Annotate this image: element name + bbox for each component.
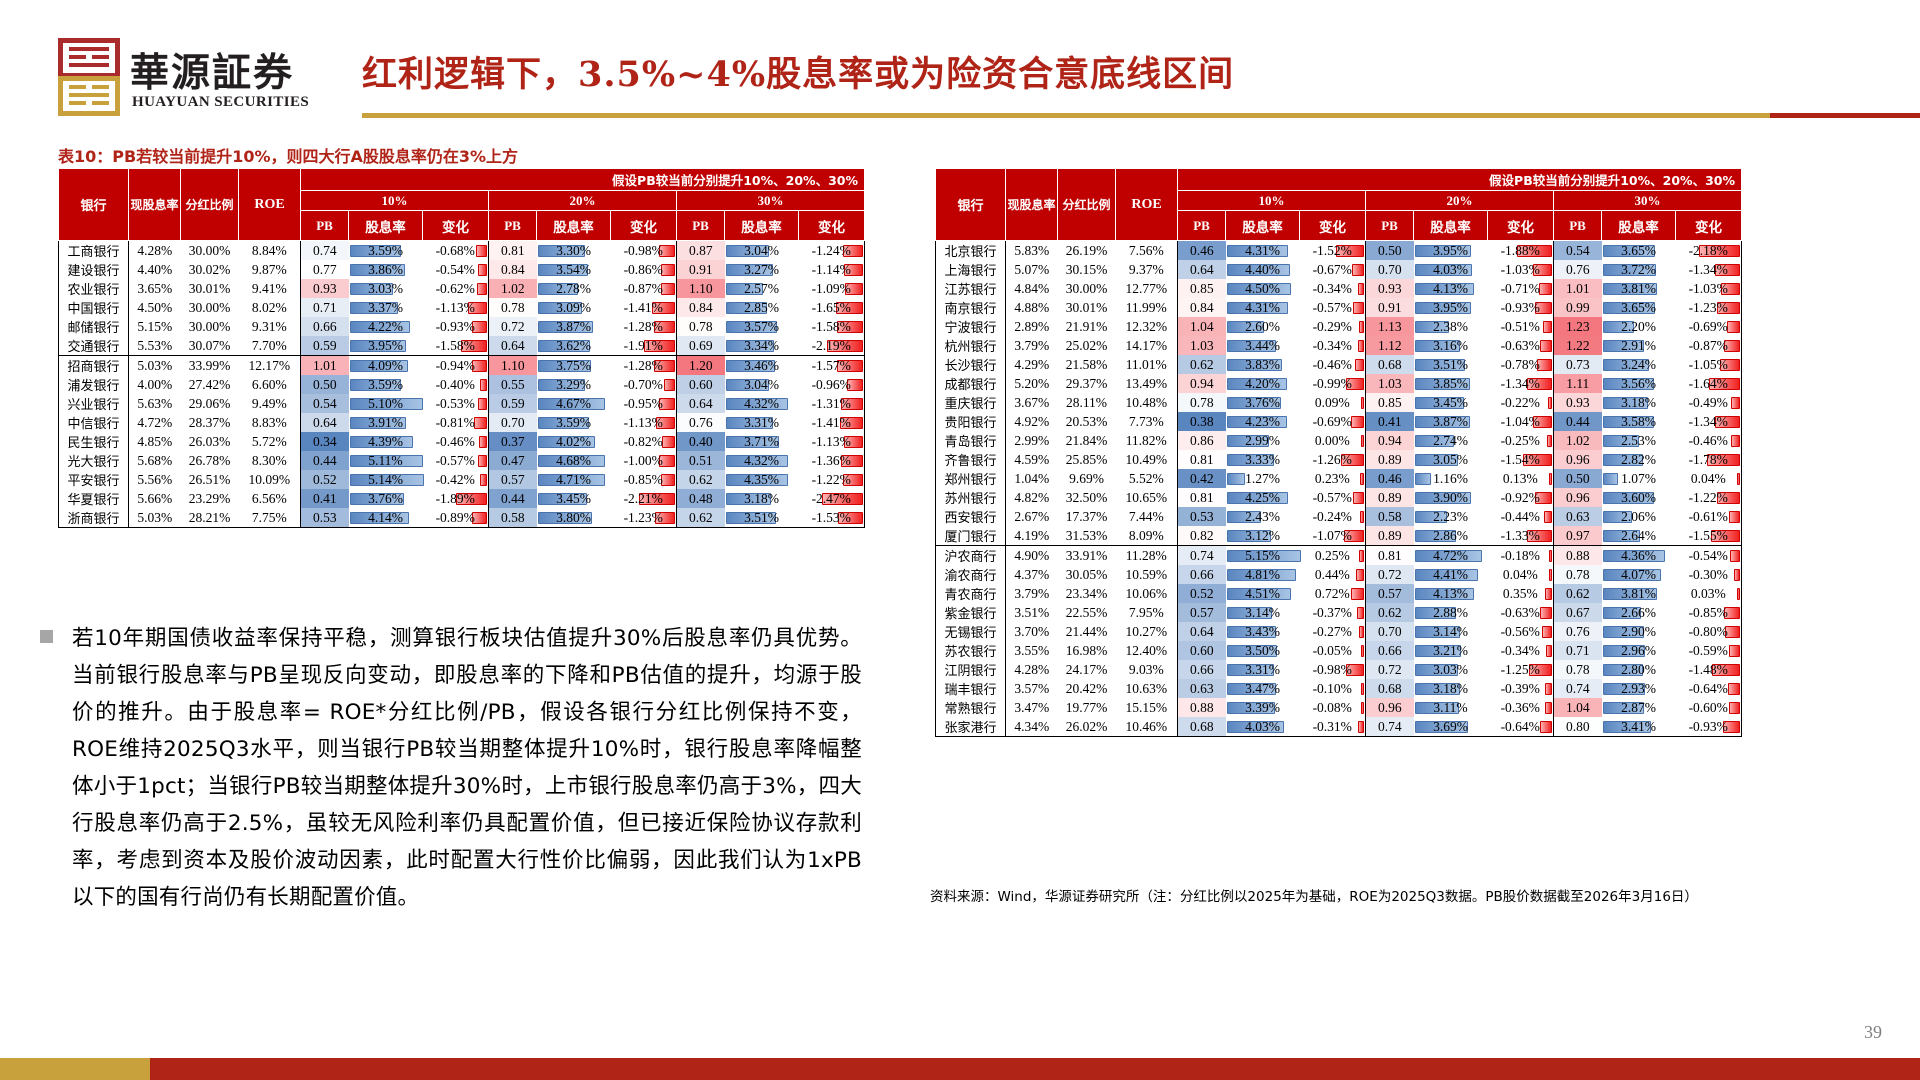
cell-change: -0.93%: [423, 317, 489, 336]
cell-payout: 27.42%: [181, 375, 239, 394]
cell-yield: 4.14%: [349, 508, 423, 528]
cell-payout: 26.02%: [1058, 717, 1116, 737]
cell-yield: 4.40%: [1226, 260, 1300, 279]
cell-payout: 19.77%: [1058, 698, 1116, 717]
cell-pb: 0.82: [1178, 526, 1226, 546]
cell-change: -0.87%: [611, 279, 677, 298]
cell-yield: 3.29%: [537, 375, 611, 394]
table-row: 邮储银行5.15%30.00%9.31%0.664.22%-0.93%0.723…: [59, 317, 865, 336]
cell-pb: 0.93: [1554, 393, 1602, 412]
cell-change: -0.24%: [1300, 507, 1366, 526]
cell-yield: 2.90%: [1602, 622, 1676, 641]
cell-change: -0.27%: [1300, 622, 1366, 641]
cell-change: -0.80%: [1676, 622, 1742, 641]
cell-payout: 25.85%: [1058, 450, 1116, 469]
table-row: 苏州银行4.82%32.50%10.65%0.814.25%-0.57%0.89…: [936, 488, 1742, 507]
cell-pb: 0.68: [1366, 679, 1414, 698]
cell-roe: 8.83%: [239, 413, 301, 432]
col-head-roe: ROE: [239, 169, 301, 241]
cell-yield: 2.38%: [1414, 317, 1488, 336]
cell-bank: 兴业银行: [59, 394, 129, 413]
cell-bank: 苏州银行: [936, 488, 1006, 507]
cell-yield: 3.95%: [349, 336, 423, 356]
cell-roe: 10.49%: [1116, 450, 1178, 469]
summary-bullet: 若10年期国债收益率保持平稳，测算银行板块估值提升30%后股息率仍具优势。当前银…: [22, 620, 862, 916]
cell-yield: 3.33%: [1226, 450, 1300, 469]
cell-pb: 0.54: [1554, 241, 1602, 261]
cell-pb: 0.53: [301, 508, 349, 528]
cell-change: -0.94%: [423, 356, 489, 376]
table-row: 重庆银行3.67%28.11%10.48%0.783.76%0.09%0.853…: [936, 393, 1742, 412]
cell-change: 0.72%: [1300, 584, 1366, 603]
cell-pb: 0.47: [489, 451, 537, 470]
cell-yield: 3.87%: [1414, 412, 1488, 431]
cell-bank: 上海银行: [936, 260, 1006, 279]
cell-bank: 齐鲁银行: [936, 450, 1006, 469]
cell-yield: 3.46%: [725, 356, 799, 376]
cell-pb: 0.64: [1178, 622, 1226, 641]
cell-pb: 0.72: [1366, 565, 1414, 584]
col-head-group-g30: 30%: [1554, 191, 1742, 211]
cell-payout: 29.06%: [181, 394, 239, 413]
cell-bank: 中国银行: [59, 298, 129, 317]
cell-pb: 0.57: [1178, 603, 1226, 622]
brand-logo: 華源証券 HUAYUAN SECURITIES: [58, 38, 343, 126]
cell-pb: 0.74: [1366, 717, 1414, 737]
cell-yield: 3.47%: [1226, 679, 1300, 698]
cell-yield: 5.15%: [1226, 546, 1300, 566]
cell-change: -0.63%: [1488, 603, 1554, 622]
col-head-group-g10: 10%: [301, 191, 489, 211]
cell-yield: 4.02%: [537, 432, 611, 451]
cell-bank: 邮储银行: [59, 317, 129, 336]
cell-yield: 3.76%: [349, 489, 423, 508]
cell-yield: 3.12%: [1226, 526, 1300, 546]
cell-bank: 常熟银行: [936, 698, 1006, 717]
table-row: 工商银行4.28%30.00%8.84%0.743.59%-0.68%0.813…: [59, 241, 865, 261]
cell-roe: 12.32%: [1116, 317, 1178, 336]
cell-change: 0.23%: [1300, 469, 1366, 488]
cell-change: -2.47%: [799, 489, 865, 508]
cell-yield: 2.57%: [725, 279, 799, 298]
col-head-assumption: 假设PB较当前分别提升10%、20%、30%: [301, 169, 865, 191]
table-row: 常熟银行3.47%19.77%15.15%0.883.39%-0.08%0.96…: [936, 698, 1742, 717]
cell-pb: 1.03: [1178, 336, 1226, 355]
cell-yield: 4.32%: [725, 394, 799, 413]
cell-pb: 0.64: [489, 336, 537, 356]
huayuan-logo-icon: [58, 38, 120, 116]
cell-change: -1.33%: [1488, 526, 1554, 546]
cell-payout: 33.99%: [181, 356, 239, 376]
cell-change: -0.93%: [1488, 298, 1554, 317]
cell-change: -1.88%: [1488, 241, 1554, 261]
cell-yield: 3.21%: [1414, 641, 1488, 660]
cell-yield: 2.85%: [725, 298, 799, 317]
cell-roe: 12.17%: [239, 356, 301, 376]
col-head-group-g20: 20%: [1366, 191, 1554, 211]
cell-pb: 0.66: [1178, 565, 1226, 584]
cell-yield: 5.11%: [349, 451, 423, 470]
cell-pb: 0.81: [1178, 488, 1226, 507]
cell-pb: 0.96: [1554, 488, 1602, 507]
cell-payout: 30.00%: [181, 298, 239, 317]
cell-payout: 28.11%: [1058, 393, 1116, 412]
cell-payout: 25.02%: [1058, 336, 1116, 355]
cell-pb: 0.46: [1178, 241, 1226, 261]
cell-yield: 3.56%: [1602, 374, 1676, 393]
cell-yield: 3.45%: [1414, 393, 1488, 412]
cell-yield: 2.78%: [537, 279, 611, 298]
col-head-change: 变化: [1676, 211, 1742, 241]
cell-change: -0.60%: [1676, 698, 1742, 717]
cell-roe: 12.40%: [1116, 641, 1178, 660]
col-head-group-g30: 30%: [677, 191, 865, 211]
cell-payout: 16.98%: [1058, 641, 1116, 660]
cell-change: -1.28%: [611, 317, 677, 336]
cell-roe: 10.59%: [1116, 565, 1178, 584]
cell-yield: 3.75%: [537, 356, 611, 376]
cell-pb: 0.72: [489, 317, 537, 336]
cell-bank: 招商银行: [59, 356, 129, 376]
cell-pb: 1.13: [1366, 317, 1414, 336]
cell-pb: 0.81: [489, 241, 537, 261]
cell-yield: 4.50%: [1226, 279, 1300, 298]
table-row: 紫金银行3.51%22.55%7.95%0.573.14%-0.37%0.622…: [936, 603, 1742, 622]
cell-change: -0.25%: [1488, 431, 1554, 450]
cell-yield: 4.03%: [1414, 260, 1488, 279]
cell-change: -0.98%: [611, 241, 677, 261]
cell-yield: 3.39%: [1226, 698, 1300, 717]
cell-bank: 交通银行: [59, 336, 129, 356]
cell-current-yield: 5.07%: [1006, 260, 1058, 279]
cell-change: -1.24%: [799, 241, 865, 261]
cell-roe: 11.28%: [1116, 546, 1178, 566]
cell-yield: 3.50%: [1226, 641, 1300, 660]
cell-change: -0.46%: [423, 432, 489, 451]
cell-pb: 1.04: [1554, 698, 1602, 717]
cell-change: -1.04%: [1488, 412, 1554, 431]
cell-yield: 3.90%: [1414, 488, 1488, 507]
cell-change: 0.44%: [1300, 565, 1366, 584]
cell-current-yield: 5.63%: [129, 394, 181, 413]
cell-bank: 平安银行: [59, 470, 129, 489]
cell-current-yield: 4.28%: [129, 241, 181, 261]
cell-current-yield: 4.29%: [1006, 355, 1058, 374]
col-head-pb: PB: [677, 211, 725, 241]
cell-pb: 1.02: [489, 279, 537, 298]
cell-yield: 3.65%: [1602, 241, 1676, 261]
cell-pb: 0.62: [1554, 584, 1602, 603]
cell-pb: 0.99: [1554, 298, 1602, 317]
cell-pb: 0.62: [1178, 355, 1226, 374]
cell-change: -0.67%: [1300, 260, 1366, 279]
cell-payout: 30.00%: [181, 241, 239, 261]
cell-yield: 2.87%: [1602, 698, 1676, 717]
cell-change: -0.36%: [1488, 698, 1554, 717]
cell-pb: 0.64: [677, 394, 725, 413]
cell-change: -0.34%: [1488, 641, 1554, 660]
cell-change: -0.05%: [1300, 641, 1366, 660]
cell-yield: 3.95%: [1414, 298, 1488, 317]
cell-current-yield: 3.67%: [1006, 393, 1058, 412]
cell-pb: 0.97: [1554, 526, 1602, 546]
table-row: 江阴银行4.28%24.17%9.03%0.663.31%-0.98%0.723…: [936, 660, 1742, 679]
cell-yield: 5.10%: [349, 394, 423, 413]
cell-yield: 3.62%: [537, 336, 611, 356]
cell-change: -0.96%: [799, 375, 865, 394]
cell-bank: 光大银行: [59, 451, 129, 470]
cell-change: -0.68%: [423, 241, 489, 261]
cell-change: -0.44%: [1488, 507, 1554, 526]
cell-pb: 0.68: [1178, 717, 1226, 737]
cell-roe: 7.95%: [1116, 603, 1178, 622]
cell-current-yield: 3.70%: [1006, 622, 1058, 641]
cell-yield: 3.69%: [1414, 717, 1488, 737]
cell-pb: 0.73: [1554, 355, 1602, 374]
cell-yield: 3.18%: [1414, 679, 1488, 698]
cell-current-yield: 4.84%: [1006, 279, 1058, 298]
cell-current-yield: 5.20%: [1006, 374, 1058, 393]
cell-change: -1.34%: [1676, 260, 1742, 279]
summary-text: 若10年期国债收益率保持平稳，测算银行板块估值提升30%后股息率仍具优势。当前银…: [72, 620, 862, 916]
cell-change: -1.05%: [1676, 355, 1742, 374]
cell-pb: 0.94: [1178, 374, 1226, 393]
cell-change: -0.57%: [1300, 298, 1366, 317]
cell-roe: 10.46%: [1116, 717, 1178, 737]
cell-pb: 0.41: [301, 489, 349, 508]
header-rule-red: [1770, 113, 1920, 118]
cell-roe: 10.09%: [239, 470, 301, 489]
cell-bank: 江阴银行: [936, 660, 1006, 679]
cell-pb: 0.63: [1178, 679, 1226, 698]
cell-yield: 3.04%: [725, 241, 799, 261]
cell-change: -0.87%: [1676, 336, 1742, 355]
cell-payout: 29.37%: [1058, 374, 1116, 393]
cell-roe: 7.56%: [1116, 241, 1178, 261]
cell-pb: 0.76: [1554, 260, 1602, 279]
cell-yield: 2.96%: [1602, 641, 1676, 660]
table-row: 厦门银行4.19%31.53%8.09%0.823.12%-1.07%0.892…: [936, 526, 1742, 546]
table-caption-left: 表10：PB若较当前提升10%，则四大行A股股息率仍在3%上方: [58, 143, 518, 167]
cell-roe: 5.72%: [239, 432, 301, 451]
col-head-pb: PB: [1178, 211, 1226, 241]
table-row: 中信银行4.72%28.37%8.83%0.643.91%-0.81%0.703…: [59, 413, 865, 432]
cell-change: 0.35%: [1488, 584, 1554, 603]
cell-change: -0.71%: [1488, 279, 1554, 298]
cell-pb: 1.01: [1554, 279, 1602, 298]
cell-payout: 20.42%: [1058, 679, 1116, 698]
cell-yield: 3.05%: [1414, 450, 1488, 469]
col-head-change: 变化: [423, 211, 489, 241]
cell-bank: 张家港行: [936, 717, 1006, 737]
col-head-yield: 股息率: [1602, 211, 1676, 241]
col-head-payout: 分红比例: [1058, 169, 1116, 241]
table-row: 民生银行4.85%26.03%5.72%0.344.39%-0.46%0.374…: [59, 432, 865, 451]
cell-yield: 2.64%: [1602, 526, 1676, 546]
cell-yield: 4.13%: [1414, 279, 1488, 298]
table-row: 北京银行5.83%26.19%7.56%0.464.31%-1.52%0.503…: [936, 241, 1742, 261]
cell-change: -0.64%: [1676, 679, 1742, 698]
table-row: 浦发银行4.00%27.42%6.60%0.503.59%-0.40%0.553…: [59, 375, 865, 394]
cell-change: -1.14%: [799, 260, 865, 279]
cell-current-yield: 4.72%: [129, 413, 181, 432]
cell-payout: 32.50%: [1058, 488, 1116, 507]
cell-yield: 3.60%: [1602, 488, 1676, 507]
cell-pb: 0.81: [1178, 450, 1226, 469]
cell-yield: 2.53%: [1602, 431, 1676, 450]
cell-pb: 1.10: [677, 279, 725, 298]
cell-change: -0.39%: [1488, 679, 1554, 698]
cell-change: 0.25%: [1300, 546, 1366, 566]
cell-pb: 0.38: [1178, 412, 1226, 431]
cell-change: -1.54%: [1488, 450, 1554, 469]
col-head-pb: PB: [301, 211, 349, 241]
cell-yield: 4.03%: [1226, 717, 1300, 737]
cell-change: -1.41%: [799, 413, 865, 432]
cell-yield: 3.65%: [1602, 298, 1676, 317]
cell-change: -0.92%: [1488, 488, 1554, 507]
cell-roe: 8.02%: [239, 298, 301, 317]
cell-current-yield: 4.59%: [1006, 450, 1058, 469]
cell-yield: 3.31%: [725, 413, 799, 432]
cell-roe: 6.60%: [239, 375, 301, 394]
cell-payout: 23.29%: [181, 489, 239, 508]
col-head-yield: 股息率: [1226, 211, 1300, 241]
cell-change: -1.64%: [1676, 374, 1742, 393]
cell-change: -2.21%: [611, 489, 677, 508]
cell-change: -2.18%: [1676, 241, 1742, 261]
cell-current-yield: 5.03%: [129, 508, 181, 528]
col-head-yield: 股息率: [537, 211, 611, 241]
brand-name-cn: 華源証券: [130, 42, 294, 98]
cell-current-yield: 5.03%: [129, 356, 181, 376]
cell-pb: 0.74: [1554, 679, 1602, 698]
cell-pb: 0.91: [677, 260, 725, 279]
cell-yield: 3.24%: [1602, 355, 1676, 374]
cell-change: -1.00%: [611, 451, 677, 470]
cell-pb: 0.70: [489, 413, 537, 432]
col-head-change: 变化: [799, 211, 865, 241]
cell-change: -1.78%: [1676, 450, 1742, 469]
table-row: 贵阳银行4.92%20.53%7.73%0.384.23%-0.69%0.413…: [936, 412, 1742, 431]
cell-current-yield: 4.90%: [1006, 546, 1058, 566]
table-row: 沪农商行4.90%33.91%11.28%0.745.15%0.25%0.814…: [936, 546, 1742, 566]
cell-change: -1.26%: [1300, 450, 1366, 469]
cell-pb: 0.76: [677, 413, 725, 432]
cell-bank: 北京银行: [936, 241, 1006, 261]
cell-pb: 0.84: [1178, 298, 1226, 317]
cell-pb: 0.84: [489, 260, 537, 279]
table-row: 光大银行5.68%26.78%8.30%0.445.11%-0.57%0.474…: [59, 451, 865, 470]
cell-change: -0.69%: [1300, 412, 1366, 431]
cell-bank: 中信银行: [59, 413, 129, 432]
cell-pb: 0.71: [301, 298, 349, 317]
cell-change: -0.37%: [1300, 603, 1366, 622]
cell-change: -1.48%: [1676, 660, 1742, 679]
cell-roe: 7.73%: [1116, 412, 1178, 431]
table-row: 招商银行5.03%33.99%12.17%1.014.09%-0.94%1.10…: [59, 356, 865, 376]
cell-change: -0.62%: [423, 279, 489, 298]
cell-pb: 1.23: [1554, 317, 1602, 336]
cell-change: -1.22%: [1676, 488, 1742, 507]
cell-yield: 2.80%: [1602, 660, 1676, 679]
cell-change: -0.29%: [1300, 317, 1366, 336]
cell-current-yield: 4.00%: [129, 375, 181, 394]
cell-roe: 10.65%: [1116, 488, 1178, 507]
cell-roe: 5.52%: [1116, 469, 1178, 488]
cell-roe: 9.87%: [239, 260, 301, 279]
cell-change: -0.42%: [423, 470, 489, 489]
cell-pb: 1.12: [1366, 336, 1414, 355]
cell-pb: 1.20: [677, 356, 725, 376]
cell-current-yield: 1.04%: [1006, 469, 1058, 488]
cell-pb: 0.89: [1366, 488, 1414, 507]
cell-bank: 渝农商行: [936, 565, 1006, 584]
col-head-group-g20: 20%: [489, 191, 677, 211]
cell-yield: 2.43%: [1226, 507, 1300, 526]
cell-yield: 3.11%: [1414, 698, 1488, 717]
cell-yield: 3.58%: [1602, 412, 1676, 431]
cell-payout: 23.34%: [1058, 584, 1116, 603]
cell-change: -0.61%: [1676, 507, 1742, 526]
cell-pb: 1.10: [489, 356, 537, 376]
cell-yield: 3.31%: [1226, 660, 1300, 679]
col-head-payout: 分红比例: [181, 169, 239, 241]
cell-pb: 0.58: [489, 508, 537, 528]
cell-roe: 9.37%: [1116, 260, 1178, 279]
cell-change: -0.64%: [1488, 717, 1554, 737]
cell-yield: 2.88%: [1414, 603, 1488, 622]
cell-pb: 0.41: [1366, 412, 1414, 431]
cell-current-yield: 5.15%: [129, 317, 181, 336]
brand-name-en: HUAYUAN SECURITIES: [132, 94, 309, 111]
cell-payout: 26.03%: [181, 432, 239, 451]
source-note: 资料来源：Wind，华源证券研究所（注：分红比例以2025年为基础，ROE为20…: [930, 886, 1900, 908]
cell-change: -0.34%: [1300, 279, 1366, 298]
cell-change: -0.95%: [611, 394, 677, 413]
cell-yield: 3.30%: [537, 241, 611, 261]
cell-roe: 9.31%: [239, 317, 301, 336]
cell-bank: 成都银行: [936, 374, 1006, 393]
cell-current-yield: 4.40%: [129, 260, 181, 279]
cell-yield: 3.14%: [1226, 603, 1300, 622]
col-head-assumption: 假设PB较当前分别提升10%、20%、30%: [1178, 169, 1742, 191]
cell-pb: 0.68: [1366, 355, 1414, 374]
cell-bank: 农业银行: [59, 279, 129, 298]
cell-pb: 0.52: [301, 470, 349, 489]
cell-pb: 1.22: [1554, 336, 1602, 355]
cell-payout: 26.51%: [181, 470, 239, 489]
cell-change: 0.09%: [1300, 393, 1366, 412]
footer-bar: [0, 1058, 1920, 1080]
table-row: 浙商银行5.03%28.21%7.75%0.534.14%-0.89%0.583…: [59, 508, 865, 528]
cell-bank: 工商银行: [59, 241, 129, 261]
cell-current-yield: 4.82%: [1006, 488, 1058, 507]
cell-yield: 3.41%: [1602, 717, 1676, 737]
cell-bank: 宁波银行: [936, 317, 1006, 336]
cell-current-yield: 3.57%: [1006, 679, 1058, 698]
cell-pb: 0.59: [489, 394, 537, 413]
cell-yield: 4.51%: [1226, 584, 1300, 603]
cell-yield: 2.86%: [1414, 526, 1488, 546]
cell-pb: 0.66: [301, 317, 349, 336]
cell-yield: 4.25%: [1226, 488, 1300, 507]
cell-current-yield: 3.55%: [1006, 641, 1058, 660]
cell-change: -1.09%: [799, 279, 865, 298]
cell-current-yield: 2.89%: [1006, 317, 1058, 336]
cell-change: -0.89%: [423, 508, 489, 528]
cell-change: 0.04%: [1488, 565, 1554, 584]
